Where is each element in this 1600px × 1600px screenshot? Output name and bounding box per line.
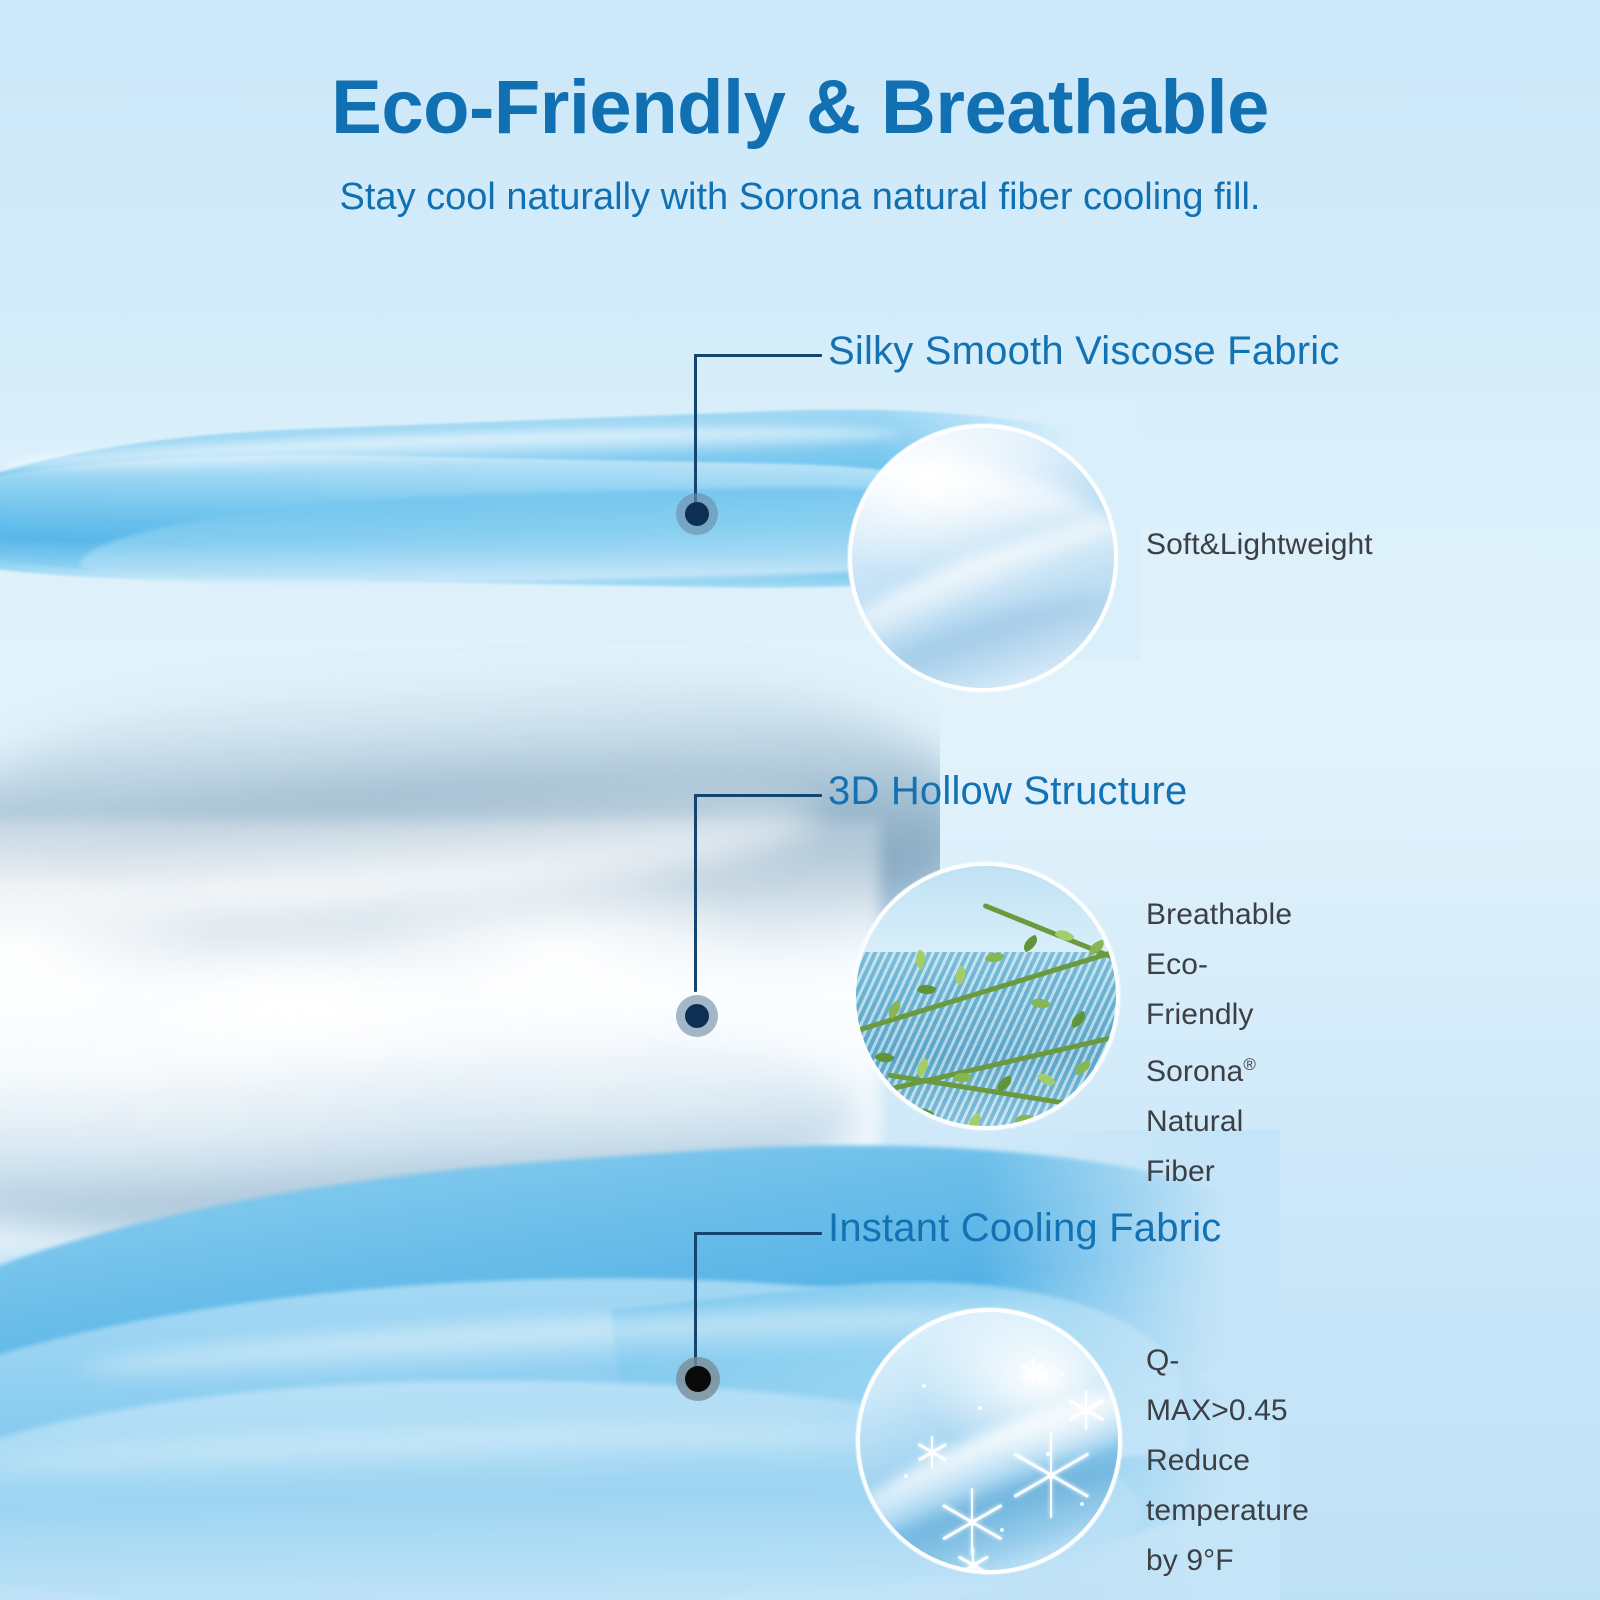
page-title: Eco-Friendly & Breathable xyxy=(0,64,1600,151)
callout-2-title: 3D Hollow Structure xyxy=(828,769,1187,814)
callout-2-body-line-2: Eco-Friendly Sorona® xyxy=(1146,940,1292,1097)
hotspot-marker-3[interactable] xyxy=(676,1357,720,1401)
callout-3-body: Q-MAX>0.45 Reduce temperature by 9°F xyxy=(1146,1336,1309,1586)
snowflake-cooling-photo xyxy=(856,1308,1122,1574)
snowflake-icon xyxy=(938,1488,1006,1556)
sorona-label: Eco-Friendly Sorona xyxy=(1146,948,1254,1088)
hotspot-marker-1[interactable] xyxy=(676,493,718,535)
silky-fabric-photo xyxy=(848,424,1118,692)
snowflake-icon xyxy=(1020,1358,1046,1384)
callout-2-body-line-1: Breathable xyxy=(1146,890,1292,940)
callout-2-body: Breathable Eco-Friendly Sorona® Natural … xyxy=(1146,890,1292,1197)
registered-trademark-icon: ® xyxy=(1243,1055,1256,1074)
callout-3-title: Instant Cooling Fabric xyxy=(828,1206,1221,1251)
infographic-page: Eco-Friendly & Breathable Stay cool natu… xyxy=(0,0,1600,1600)
page-subtitle: Stay cool naturally with Sorona natural … xyxy=(0,176,1600,219)
callout-1-body: Soft&Lightweight xyxy=(1146,520,1373,570)
snowflake-icon xyxy=(956,1548,990,1574)
sorona-fiber-vine-photo xyxy=(852,862,1120,1130)
callout-1-body-line-1: Soft&Lightweight xyxy=(1146,520,1373,570)
leader-line-2 xyxy=(694,794,824,994)
leader-line-3 xyxy=(694,1232,824,1376)
callout-2-body-line-3: Natural Fiber xyxy=(1146,1097,1292,1197)
snowflake-icon xyxy=(1066,1390,1106,1430)
callout-3-body-line-3: by 9°F xyxy=(1146,1536,1309,1586)
callout-3-body-line-1: Q-MAX>0.45 xyxy=(1146,1336,1309,1436)
snowflake-icon xyxy=(916,1436,948,1468)
leader-line-1 xyxy=(694,354,824,516)
hotspot-marker-2[interactable] xyxy=(676,995,718,1037)
callout-1-title: Silky Smooth Viscose Fabric xyxy=(828,329,1340,374)
callout-3-body-line-2: Reduce temperature xyxy=(1146,1436,1309,1536)
